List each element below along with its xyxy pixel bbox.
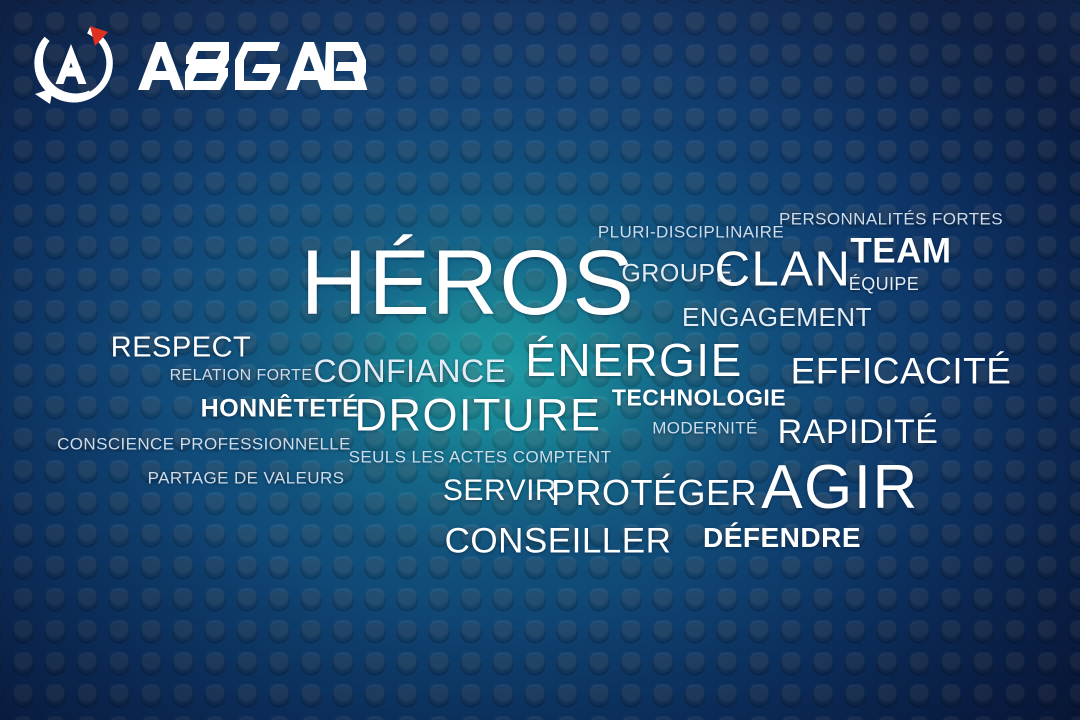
cloud-word: ÉNERGIE — [525, 337, 743, 383]
cloud-word: CONSCIENCE PROFESSIONNELLE — [57, 436, 351, 453]
cloud-word: RELATION FORTE — [170, 368, 313, 384]
cloud-word: SERVIR — [443, 476, 557, 506]
cloud-word: DROITURE — [355, 393, 602, 438]
cloud-word: RESPECT — [111, 334, 251, 363]
cloud-word: ENGAGEMENT — [682, 304, 872, 330]
cloud-word: SEULS LES ACTES COMPTENT — [349, 449, 612, 466]
cloud-word: PROTÉGER — [551, 475, 757, 511]
cloud-word: MODERNITÉ — [652, 420, 758, 437]
cloud-word: PERSONNALITÉS FORTES — [779, 211, 1003, 228]
cloud-word: EFFICACITÉ — [791, 353, 1012, 390]
cloud-word: AGIR — [761, 457, 919, 519]
cloud-word: TEAM — [850, 234, 951, 269]
cloud-word: HONNÊTETÉ — [201, 397, 360, 422]
cloud-word: DÉFENDRE — [703, 524, 861, 552]
cloud-word: RAPIDITÉ — [778, 415, 939, 449]
cloud-word: ÉQUIPE — [849, 275, 919, 293]
cloud-word: PLURI-DISCIPLINAIRE — [598, 224, 784, 241]
poster-canvas: HÉROSPLURI-DISCIPLINAIREPERSONNALITÉS FO… — [0, 0, 1080, 720]
cloud-word: HÉROS — [301, 237, 636, 329]
cloud-word: TECHNOLOGIE — [612, 387, 786, 410]
cloud-word: PARTAGE DE VALEURS — [148, 470, 345, 487]
values-word-cloud: HÉROSPLURI-DISCIPLINAIREPERSONNALITÉS FO… — [0, 0, 1080, 720]
cloud-word: CONSEILLER — [445, 524, 672, 559]
cloud-word: CLAN — [715, 246, 852, 295]
cloud-word: CONFIANCE — [314, 355, 507, 387]
